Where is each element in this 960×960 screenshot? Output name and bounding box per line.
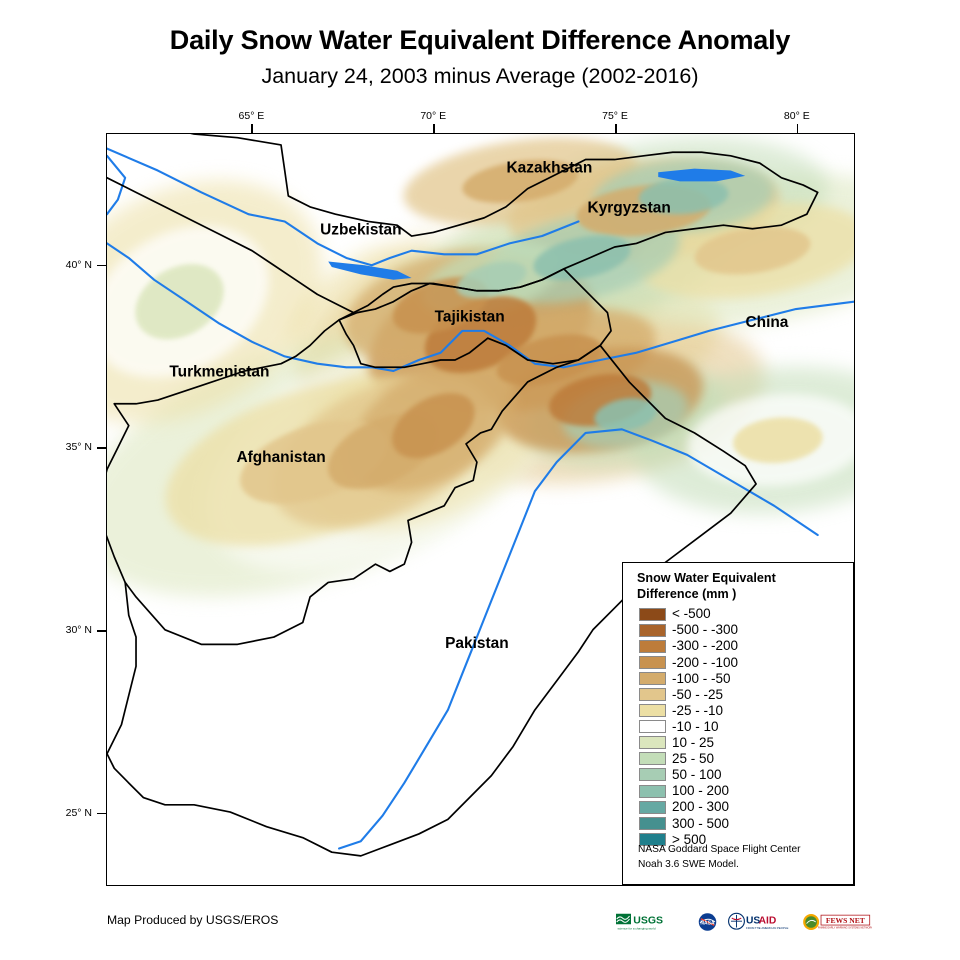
page-title: Daily Snow Water Equivalent Difference A… (0, 26, 960, 56)
legend-row: -100 - -50 (639, 670, 844, 686)
lat-tick (97, 630, 106, 632)
lon-tick (433, 124, 435, 133)
legend-label: -50 - -25 (672, 688, 723, 702)
legend-row: -200 - -100 (639, 654, 844, 670)
lon-tick (615, 124, 617, 133)
map-legend: Snow Water Equivalent Difference (mm ) <… (622, 562, 854, 885)
lon-tick-label: 65° E (239, 110, 265, 122)
legend-label: -300 - -200 (672, 639, 738, 653)
legend-row: 100 - 200 (639, 783, 844, 799)
legend-swatch (639, 688, 666, 701)
country-label: Pakistan (445, 635, 508, 652)
legend-swatch (639, 624, 666, 637)
legend-swatch (639, 608, 666, 621)
svg-text:FEWS NET: FEWS NET (826, 916, 865, 925)
legend-row: -300 - -200 (639, 638, 844, 654)
legend-title-line-1: Snow Water Equivalent (637, 570, 842, 586)
lon-tick (251, 124, 253, 133)
legend-swatch (639, 704, 666, 717)
legend-row: -50 - -25 (639, 686, 844, 702)
lat-tick (97, 813, 106, 815)
legend-swatch (639, 640, 666, 653)
title-block: Daily Snow Water Equivalent Difference A… (0, 26, 960, 88)
legend-label: < -500 (672, 607, 711, 621)
legend-row: 25 - 50 (639, 751, 844, 767)
legend-swatch (639, 672, 666, 685)
legend-label: -200 - -100 (672, 656, 738, 670)
legend-swatch (639, 736, 666, 749)
country-label: Tajikistan (435, 309, 505, 326)
country-label: Turkmenistan (169, 363, 269, 380)
legend-label: -500 - -300 (672, 623, 738, 637)
page-subtitle: January 24, 2003 minus Average (2002-201… (0, 65, 960, 89)
country-label: Uzbekistan (320, 221, 401, 238)
legend-label: 300 - 500 (672, 817, 729, 831)
svg-text:FROM THE AMERICAN PEOPLE: FROM THE AMERICAN PEOPLE (746, 926, 788, 930)
country-label: China (746, 314, 789, 331)
legend-label: -100 - -50 (672, 672, 731, 686)
legend-swatch (639, 768, 666, 781)
lat-tick (97, 265, 106, 267)
lat-tick-label: 30° N (66, 624, 92, 636)
lon-tick-label: 70° E (420, 110, 446, 122)
legend-swatch (639, 801, 666, 814)
nasa-logo: NASA (695, 910, 720, 934)
legend-label: 10 - 25 (672, 736, 714, 750)
legend-label: -10 - 10 (672, 720, 719, 734)
legend-swatch (639, 817, 666, 830)
lat-tick-label: 25° N (66, 807, 92, 819)
legend-credit: NASA Goddard Space Flight Center Noah 3.… (638, 843, 801, 872)
country-label: Afghanistan (236, 449, 325, 466)
country-label: Kyrgyzstan (588, 199, 671, 216)
legend-swatch (639, 752, 666, 765)
legend-row: < -500 (639, 606, 844, 622)
lat-tick (97, 447, 106, 449)
lon-tick-label: 75° E (602, 110, 628, 122)
legend-swatch (639, 785, 666, 798)
legend-swatch (639, 656, 666, 669)
legend-row: 200 - 300 (639, 799, 844, 815)
country-label: Kazakhstan (506, 159, 592, 176)
fewsnet-logo: FEWS NET FAMINE EARLY WARNING SYSTEMS NE… (802, 910, 872, 934)
legend-label: -25 - -10 (672, 704, 723, 718)
legend-title-line-2: Difference (mm ) (637, 586, 842, 602)
lon-tick-label: 80° E (784, 110, 810, 122)
svg-text:USGS: USGS (633, 915, 663, 927)
legend-row: 10 - 25 (639, 735, 844, 751)
svg-text:NASA: NASA (700, 921, 715, 927)
usgs-logo: USGS science for a changing world (616, 910, 688, 934)
usaid-logo: US AID FROM THE AMERICAN PEOPLE (727, 910, 795, 934)
svg-text:science for a changing world: science for a changing world (618, 927, 656, 931)
svg-text:FAMINE EARLY WARNING SYSTEMS N: FAMINE EARLY WARNING SYSTEMS NETWORK (818, 926, 872, 929)
legend-row: -25 - -10 (639, 703, 844, 719)
logo-strip: USGS science for a changing world NASA U… (616, 909, 872, 935)
legend-row: 300 - 500 (639, 815, 844, 831)
legend-label: 200 - 300 (672, 800, 729, 814)
legend-class-list: < -500-500 - -300-300 - -200-200 - -100-… (639, 606, 844, 847)
legend-swatch (639, 720, 666, 733)
lat-tick-label: 40° N (66, 259, 92, 271)
svg-text:AID: AID (759, 916, 777, 927)
legend-title: Snow Water Equivalent Difference (mm ) (637, 570, 842, 602)
legend-row: -500 - -300 (639, 622, 844, 638)
footer-credit: Map Produced by USGS/EROS (107, 913, 278, 927)
lon-tick (797, 124, 799, 133)
legend-label: 100 - 200 (672, 784, 729, 798)
legend-label: 25 - 50 (672, 752, 714, 766)
legend-row: -10 - 10 (639, 719, 844, 735)
legend-label: 50 - 100 (672, 768, 722, 782)
legend-row: 50 - 100 (639, 767, 844, 783)
lat-tick-label: 35° N (66, 441, 92, 453)
